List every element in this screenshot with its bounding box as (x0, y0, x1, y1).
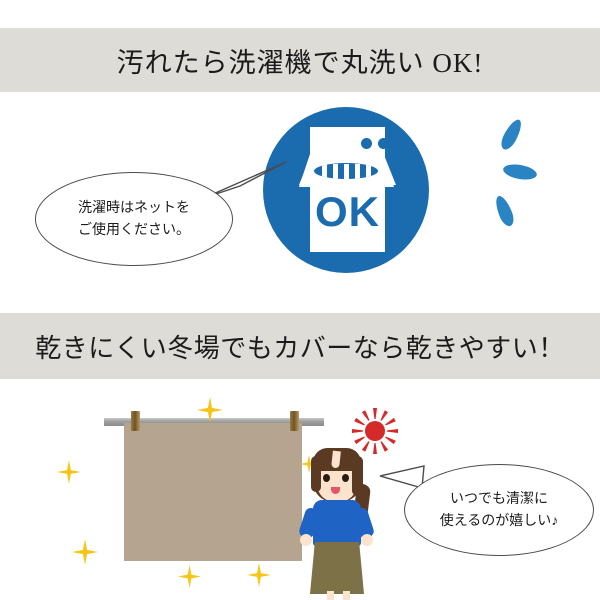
machine-drum-window (312, 161, 380, 181)
clothespin-icon (131, 411, 140, 431)
sun-ray (362, 410, 371, 422)
girl-leg-right (343, 591, 350, 600)
drum-bar (333, 164, 338, 181)
sun-ray (354, 418, 366, 427)
girl-hand-right (361, 534, 373, 546)
hanging-cover (124, 423, 302, 561)
bubble-line: いつでも清潔に (440, 488, 559, 510)
girl-hair-side-left (311, 456, 321, 492)
sun-ray (384, 435, 396, 444)
drum-bar (355, 164, 360, 181)
drum-bar (366, 164, 371, 181)
sun-ray (373, 408, 377, 419)
drum-bar (344, 164, 349, 181)
bubble-line: 使えるのが嬉しい♪ (440, 510, 559, 532)
sun-ray (387, 429, 398, 433)
girl-leg-left (327, 591, 334, 600)
bubble-line: 洗濯時はネットを (78, 197, 190, 219)
machine-ok-label: OK (310, 191, 385, 233)
speech-bubble-always-clean: いつでも清潔に 使えるのが嬉しい♪ (404, 464, 594, 556)
girl-skirt (310, 542, 364, 594)
bubble-line: ご使用ください。 (78, 219, 190, 241)
drum-bar (322, 164, 327, 181)
sparkle-icon (57, 460, 81, 484)
girl-character (296, 448, 388, 600)
water-droplet-icon (502, 162, 538, 182)
sun-ray (379, 410, 388, 422)
sparkle-icon (178, 565, 201, 588)
girl-hair-side-right (352, 456, 363, 496)
infographic-page: 汚れたら洗濯機で丸洗い OK! OK 洗濯時はネットを ご使用ください。 乾きに… (0, 0, 600, 600)
headline-band-dries-fast: 乾きにくい冬場でもカバーなら乾きやすい！ (0, 313, 600, 379)
sun-ray (352, 429, 363, 433)
sun-ray (354, 435, 366, 444)
machine-knob (361, 138, 372, 149)
girl-shirt (313, 500, 361, 546)
girl-hand-left (300, 534, 312, 546)
sparkle-icon (72, 539, 98, 565)
sun-core (365, 421, 385, 441)
headline-band-washable: 汚れたら洗濯機で丸洗い OK! (0, 28, 600, 92)
girl-eye-right (342, 474, 349, 482)
water-droplet-icon (492, 194, 516, 229)
machine-knob (378, 138, 389, 149)
girl-eye-left (323, 474, 330, 482)
sparkle-icon (247, 563, 271, 587)
clothespin-icon (290, 411, 299, 431)
sun-ray (384, 418, 396, 427)
headline-washable-text: 汚れたら洗濯機で丸洗い OK! (117, 41, 484, 80)
headline-dries-fast-text: 乾きにくい冬場でもカバーなら乾きやすい！ (35, 328, 564, 365)
speech-bubble-laundry-net: 洗濯時はネットを ご使用ください。 (35, 172, 233, 266)
water-droplet-icon (498, 117, 525, 152)
